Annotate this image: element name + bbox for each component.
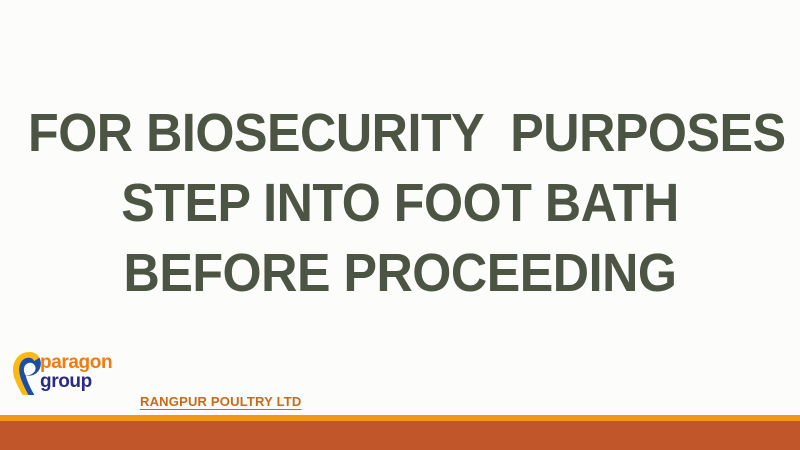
logo-word-group: group [40, 372, 140, 392]
headline-block: FOR BIOSECURITY PURPOSES STEP INTO FOOT … [0, 98, 800, 308]
paragon-group-wordmark: paragon group [40, 353, 140, 392]
slide-canvas: FOR BIOSECURITY PURPOSES STEP INTO FOOT … [0, 0, 800, 450]
headline-line-2: STEP INTO FOOT BATH [28, 168, 772, 238]
footer-band [0, 421, 800, 450]
company-name-caption: RANGPUR POULTRY LTD [140, 394, 301, 409]
logo-word-paragon: paragon [40, 353, 140, 372]
paragon-ribbon-icon [10, 350, 44, 396]
headline-line-3: BEFORE PROCEEDING [28, 238, 772, 308]
paragon-group-logo: paragon group [10, 348, 140, 400]
headline-line-1: FOR BIOSECURITY PURPOSES [28, 98, 772, 168]
